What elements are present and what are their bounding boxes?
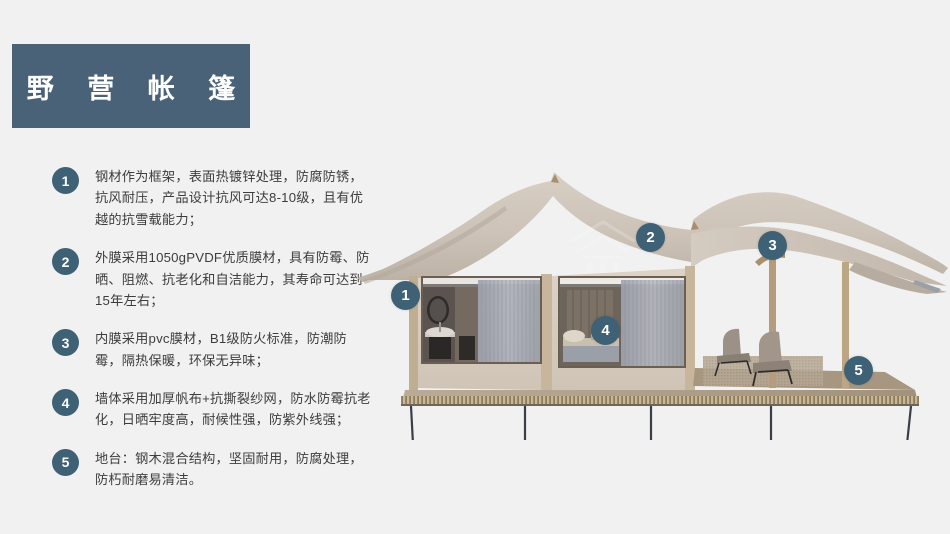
- feature-text-2: 外膜采用1050gPVDF优质膜材，具有防霉、防晒、阻燃、抗老化和自洁能力，其寿…: [95, 247, 372, 311]
- callout-badge-3[interactable]: 3: [758, 231, 787, 260]
- feature-badge-5: 5: [52, 449, 79, 476]
- feature-text-1: 钢材作为框架，表面热镀锌处理，防腐防锈，抗风耐压，产品设计抗风可达8-10级，且…: [95, 166, 372, 230]
- feature-badge-4: 4: [52, 389, 79, 416]
- tent-illustration: [355, 150, 950, 440]
- feature-badge-1: 1: [52, 167, 79, 194]
- list-item: 5 地台：钢木混合结构，坚固耐用，防腐处理，防朽耐磨易清洁。: [52, 448, 372, 491]
- feature-badge-3: 3: [52, 329, 79, 356]
- list-item: 3 内膜采用pvc膜材，B1级防火标准，防潮防霉，隔热保暖，环保无异味；: [52, 328, 372, 371]
- callout-badge-4[interactable]: 4: [591, 316, 620, 345]
- callout-layer: [355, 150, 950, 440]
- feature-text-3: 内膜采用pvc膜材，B1级防火标准，防潮防霉，隔热保暖，环保无异味；: [95, 328, 372, 371]
- list-item: 1 钢材作为框架，表面热镀锌处理，防腐防锈，抗风耐压，产品设计抗风可达8-10级…: [52, 166, 372, 230]
- page-title: 野 营 帐 篷: [14, 67, 249, 106]
- feature-badge-2: 2: [52, 248, 79, 275]
- slide-root: 野 营 帐 篷 1 钢材作为框架，表面热镀锌处理，防腐防锈，抗风耐压，产品设计抗…: [0, 0, 950, 534]
- feature-text-5: 地台：钢木混合结构，坚固耐用，防腐处理，防朽耐磨易清洁。: [95, 448, 372, 491]
- list-item: 2 外膜采用1050gPVDF优质膜材，具有防霉、防晒、阻燃、抗老化和自洁能力，…: [52, 247, 372, 311]
- page-title-bar: 野 营 帐 篷: [12, 44, 250, 128]
- list-item: 4 墙体采用加厚帆布+抗撕裂纱网，防水防霉抗老化，日晒牢度高，耐候性强，防紫外线…: [52, 388, 372, 431]
- callout-badge-1[interactable]: 1: [391, 281, 420, 310]
- feature-list: 1 钢材作为框架，表面热镀锌处理，防腐防锈，抗风耐压，产品设计抗风可达8-10级…: [52, 166, 372, 491]
- feature-text-4: 墙体采用加厚帆布+抗撕裂纱网，防水防霉抗老化，日晒牢度高，耐候性强，防紫外线强；: [95, 388, 372, 431]
- callout-badge-2[interactable]: 2: [636, 223, 665, 252]
- callout-badge-5[interactable]: 5: [844, 356, 873, 385]
